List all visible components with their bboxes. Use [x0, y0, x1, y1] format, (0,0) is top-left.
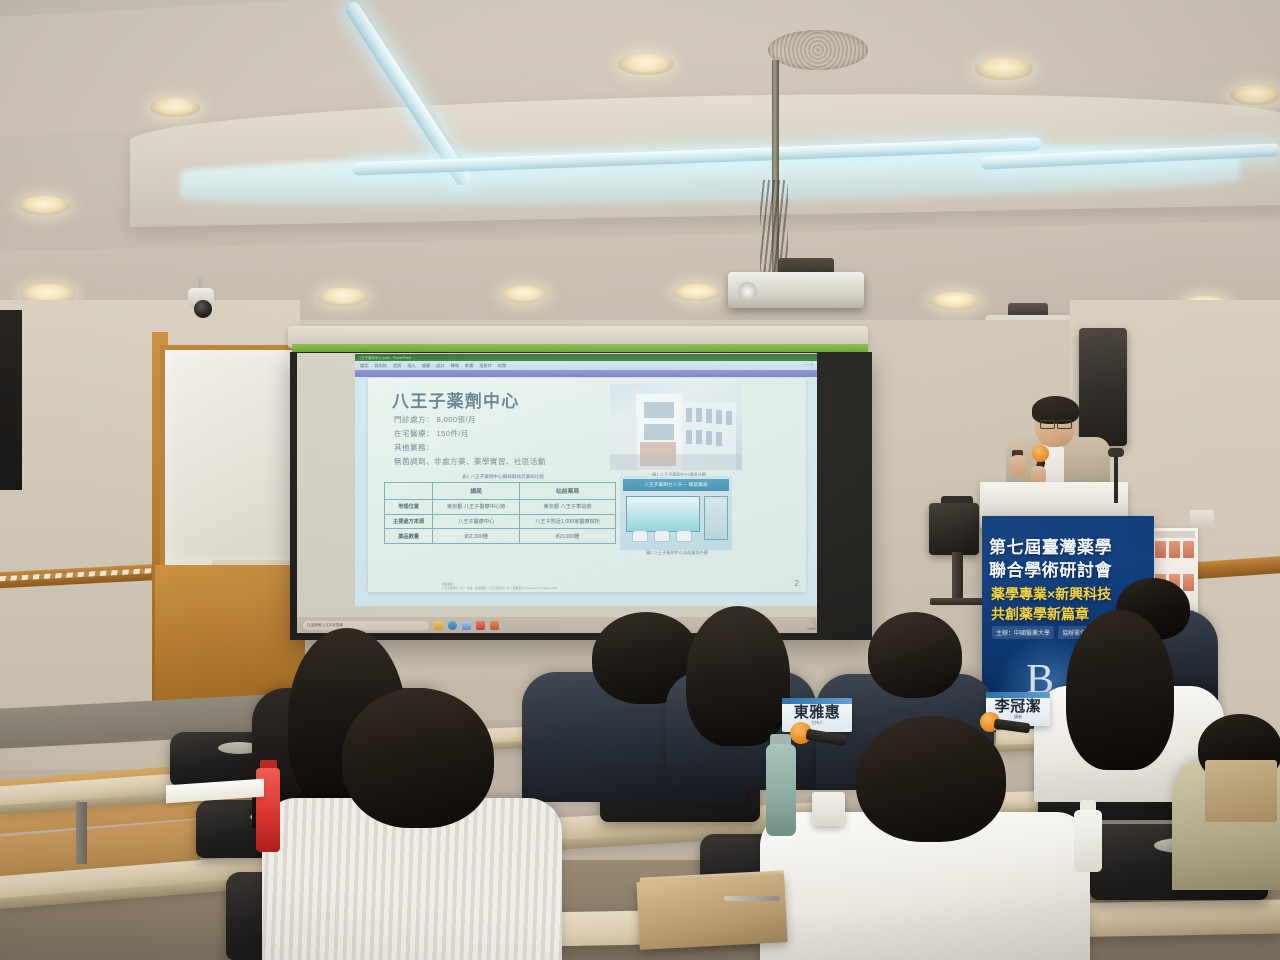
footer-line: 八王子薬剤センター 主業・施設概要 / 八王子薬剤センター 駅前薬局 Acces…: [442, 587, 558, 591]
folder-icon[interactable]: [434, 621, 443, 630]
table-row: 地理位置 東京都 八王子醫療中心旁 東京都 八王子車站旁: [385, 499, 616, 514]
menu-item[interactable]: 首頁: [393, 363, 401, 369]
whiteboard: [160, 345, 310, 570]
recessed-downlight: [150, 98, 200, 117]
menu-item[interactable]: 繪圖: [422, 363, 430, 369]
slide-bullet: 門診處方： 8,000張/月: [394, 414, 476, 425]
table-cell: 約2,300種: [433, 529, 520, 544]
search-placeholder: 在這裡輸入文字來搜尋: [307, 623, 343, 628]
row-header: 主要處方來源: [385, 514, 433, 529]
figure2-caption: 圖2 八王子薬劑中心站前薬局外觀: [622, 550, 732, 556]
eyeglasses-bridge: [1053, 423, 1057, 424]
edge-icon[interactable]: [448, 621, 457, 630]
microphone-icon: [1032, 445, 1049, 462]
powerpoint-slide: 八王子薬劑中心 門診處方： 8,000張/月 在宅醫療： 150件/月 其他業務…: [368, 378, 806, 592]
recessed-downlight: [618, 54, 674, 75]
eyeglasses-icon: [1057, 420, 1072, 429]
audience-person-head: [342, 688, 494, 828]
banner-title-line1: 第七屆臺灣薬學: [989, 533, 1112, 558]
table-cell: 東京都 八王子醫療中心旁: [433, 499, 520, 514]
recessed-downlight: [930, 292, 980, 310]
banner-subtitle-line1: 薬學專業×新興科技: [991, 584, 1111, 604]
air-vent: [768, 30, 868, 70]
slide-bullet: 其他業務：: [394, 442, 434, 453]
projection-screen: 八王子薬劑中心.pptx - PowerPoint 檔案 我用的 首頁 插入 繪…: [297, 353, 817, 633]
taskbar-search-input[interactable]: 在這裡輸入文字來搜尋: [303, 621, 429, 630]
table-row: 主要處方來源 八王子醫療中心 八王子附近1,000家醫療院所: [385, 514, 616, 529]
table-header-cell: [385, 483, 433, 500]
menu-item[interactable]: 轉場: [451, 363, 459, 369]
table-cell: 八王子附近1,000家醫療院所: [520, 514, 616, 529]
menu-item[interactable]: 插入: [407, 363, 415, 369]
audience-person-hair: [1066, 610, 1174, 770]
window-title: 八王子薬劑中心.pptx - PowerPoint: [358, 355, 411, 360]
recessed-downlight: [1230, 85, 1280, 105]
menu-item[interactable]: 動畫: [465, 363, 473, 369]
projected-app-window[interactable]: 八王子薬劑中心.pptx - PowerPoint 檔案 我用的 首頁 插入 繪…: [355, 354, 817, 606]
slide-bullet: 無菌調劑、非處方薬、薬學實習、社區活動: [394, 456, 546, 467]
slide-number: 2: [795, 579, 799, 588]
window-titlebar: 八王子薬劑中心.pptx - PowerPoint: [355, 354, 817, 361]
slide-footer: 資料來源： 八王子薬剤センター 主業・施設概要 / 八王子薬剤センター 駅前薬局…: [442, 583, 558, 591]
storefront-sign-text: 八王子薬剤センター 駅前薬局: [623, 479, 729, 491]
menu-item[interactable]: 檔案: [360, 363, 368, 369]
speaker-hair: [1032, 396, 1079, 424]
wall-box: [1190, 510, 1214, 530]
banner-organizers: 主辦：中國醫薬大學 協辦單位: [992, 626, 1090, 639]
row-header: 薬品數量: [385, 529, 433, 544]
teal-bottle: [766, 744, 796, 836]
projector-lens-icon: [738, 282, 757, 301]
poster-header: [1155, 531, 1195, 538]
poster-row: [1155, 541, 1194, 558]
tote-bag: [1205, 760, 1277, 822]
stool: [654, 530, 670, 542]
recessed-downlight: [673, 284, 721, 301]
tripod-video-camera: [929, 503, 979, 555]
pa-speaker: [1079, 328, 1127, 446]
camera-lens-icon: [194, 300, 212, 318]
table-cell: 八王子醫療中心: [433, 514, 520, 529]
paper-bag: [636, 874, 787, 950]
storefront-photo: 八王子薬剤センター 駅前薬局: [620, 476, 732, 550]
mail-icon[interactable]: [462, 621, 471, 630]
audience-person-head: [856, 716, 1006, 842]
table-header-row: 總局 站前薬局: [385, 483, 616, 500]
slide-bullet: 在宅醫療： 150件/月: [394, 428, 469, 439]
table-cell: 約3,000種: [520, 529, 616, 544]
microphone-stand: [1114, 455, 1118, 503]
recessed-downlight: [318, 288, 368, 306]
table-caption: 表1 八王子薬劑中心總局與站前薬局比較: [398, 474, 608, 480]
taskbar-tray[interactable]: ⌃ ◯ ♪ 🔋 14:07 2025/10/14: [807, 619, 817, 631]
white-bottle: [1074, 810, 1102, 872]
table-cell: 東京都 八王子車站旁: [520, 499, 616, 514]
paper-cup: [812, 792, 845, 826]
ribbon-strip: [355, 370, 817, 377]
recessed-downlight: [500, 286, 548, 303]
banner-subtitle-line2: 共創薬學新篇章: [991, 604, 1089, 624]
poster-cell: [1183, 541, 1194, 558]
stool: [676, 530, 692, 542]
poster-cell: [1169, 541, 1180, 558]
pdf-icon[interactable]: [476, 621, 485, 630]
window-controls[interactable]: – □ ×: [803, 362, 813, 367]
stool: [632, 530, 648, 542]
table-row: 薬品數量 約2,300種 約3,000種: [385, 529, 616, 544]
menu-item[interactable]: 校閱: [498, 363, 506, 369]
powerpoint-icon[interactable]: [490, 621, 499, 630]
window-menubar[interactable]: 檔案 我用的 首頁 插入 繪圖 設計 轉場 動畫 投影片 校閱 – □ ×: [355, 361, 817, 370]
recessed-downlight: [18, 196, 70, 215]
slide-title: 八王子薬劑中心: [392, 387, 519, 412]
recessed-downlight: [975, 58, 1033, 80]
nameplate-name: 東雅惠: [782, 704, 852, 720]
speaker-hand: [1010, 455, 1027, 477]
nameplate-name: 李冠潔: [986, 698, 1050, 714]
poster-cell: [1155, 541, 1166, 558]
building-photo: [610, 384, 742, 470]
menu-item[interactable]: 我用的: [374, 363, 387, 369]
tripod-column: [952, 552, 963, 602]
storefront-door: [704, 496, 728, 540]
comparison-table: 總局 站前薬局 地理位置 東京都 八王子醫療中心旁 東京都 八王子車站旁 主要處…: [384, 482, 616, 544]
menu-item[interactable]: 投影片: [479, 363, 492, 369]
pen: [724, 896, 780, 901]
audience-person-head: [868, 612, 962, 698]
table-header-cell: 總局: [433, 483, 520, 500]
row-header: 地理位置: [385, 499, 433, 514]
poster-cell: [1183, 574, 1194, 591]
dark-display-panel: [0, 310, 22, 490]
organizer-label: 主辦：中國醫薬大學: [992, 626, 1054, 639]
menu-item[interactable]: 設計: [436, 363, 444, 369]
taskbar-clock[interactable]: 14:07 2025/10/14: [807, 623, 817, 631]
audience-person-hair: [686, 606, 790, 746]
banner-title-line2: 聯合學術研討會: [989, 556, 1112, 581]
table-header-cell: 站前薬局: [520, 483, 616, 500]
storefront-window: [626, 496, 700, 532]
eyeglasses-icon: [1040, 420, 1055, 429]
lecture-hall-photo: 八王子薬劑中心.pptx - PowerPoint 檔案 我用的 首頁 插入 繪…: [0, 0, 1280, 960]
table-leg: [76, 802, 87, 864]
